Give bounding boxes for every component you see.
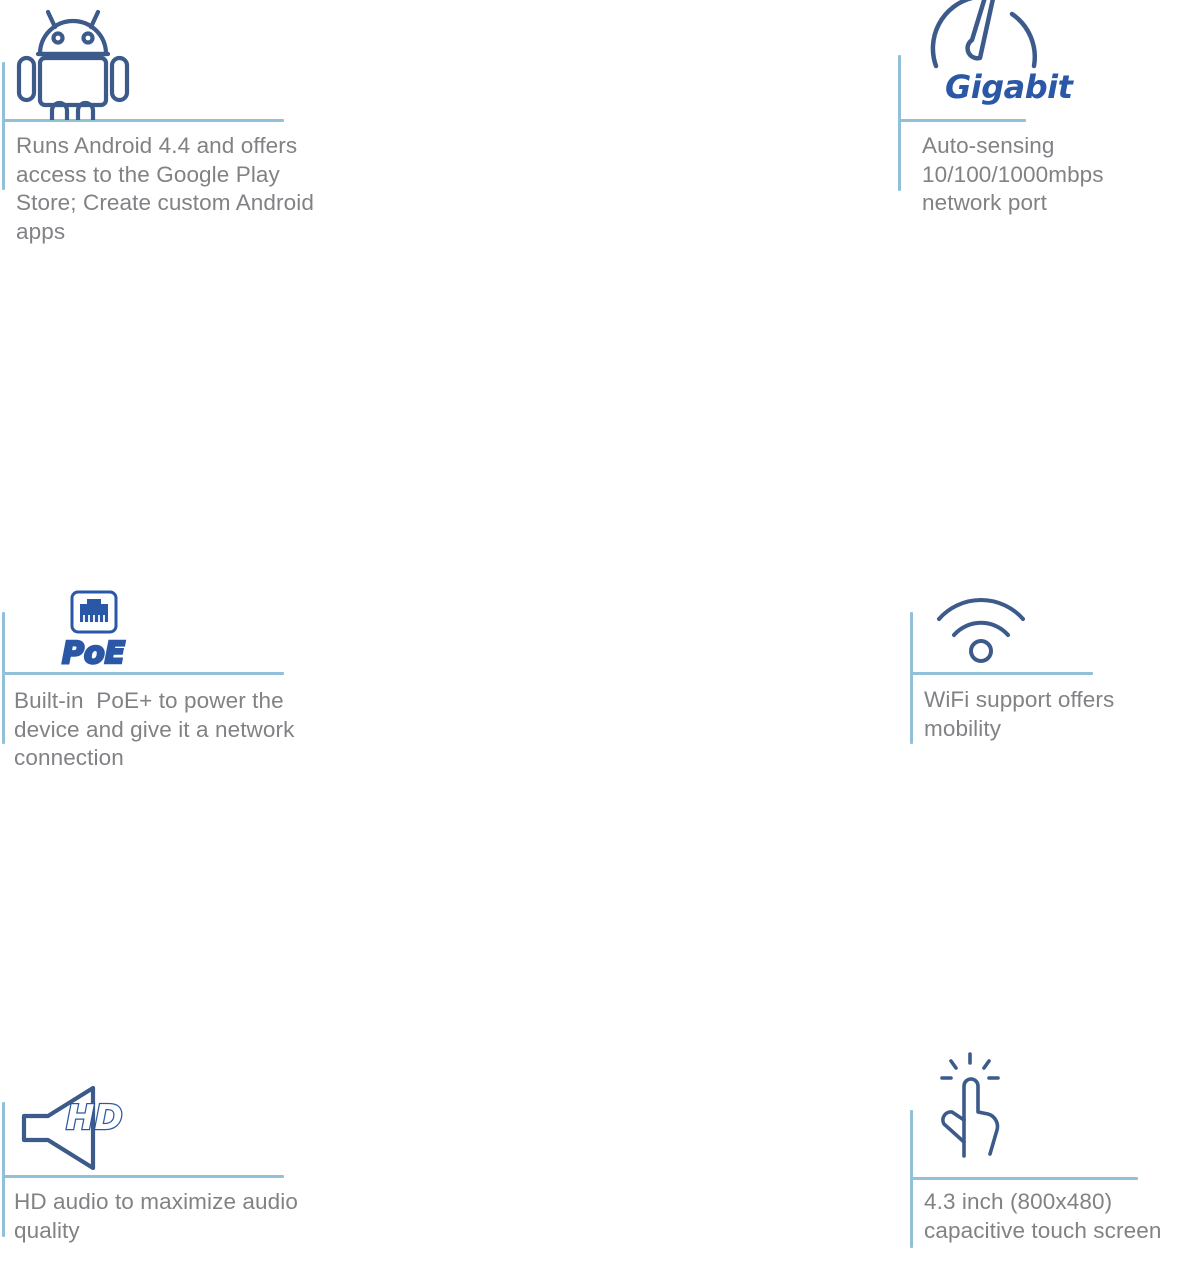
feature-card-wifi: WiFi support offers mobility [440, 272, 880, 522]
feature-card-bluetooth: Built-in Bluetooth for syncing headsets … [880, 0, 1200, 272]
tap-hand-icon [932, 1050, 1016, 1160]
feature-card-lines: 6 LINES Supports 6 SIP accounts and 7-wa… [880, 272, 1200, 522]
android-robot-icon [14, 0, 132, 120]
feature-card-hd-audio: HD HD audio to maximize audio quality [0, 522, 440, 773]
feature-card-gigabit: Gigabit Auto-sensing 10/100/1000mbps net… [440, 0, 880, 272]
feature-caption: 4.3 inch (800x480) capacitive touch scre… [924, 1188, 1184, 1245]
feature-card-android: Runs Android 4.4 and offers access to th… [0, 0, 440, 272]
rule-horizontal [910, 1177, 1138, 1180]
feature-card-poe: PoE Built-in PoE+ to power the device an… [0, 272, 440, 522]
rule-vertical [2, 1102, 5, 1237]
feature-card-security: TLS and SRTP security encryption technol… [880, 522, 1200, 773]
feature-grid: Runs Android 4.4 and offers access to th… [0, 0, 1200, 773]
feature-caption: HD audio to maximize audio quality [14, 1188, 314, 1245]
rule-vertical [2, 62, 5, 190]
rule-horizontal [2, 1175, 284, 1178]
hd-wordmark: HD [66, 1098, 123, 1138]
feature-card-touchscreen: 4.3 inch (800x480) capacitive touch scre… [440, 522, 880, 773]
speaker-hd-icon: HD [18, 1084, 130, 1172]
feature-caption: Runs Android 4.4 and offers access to th… [16, 132, 316, 246]
